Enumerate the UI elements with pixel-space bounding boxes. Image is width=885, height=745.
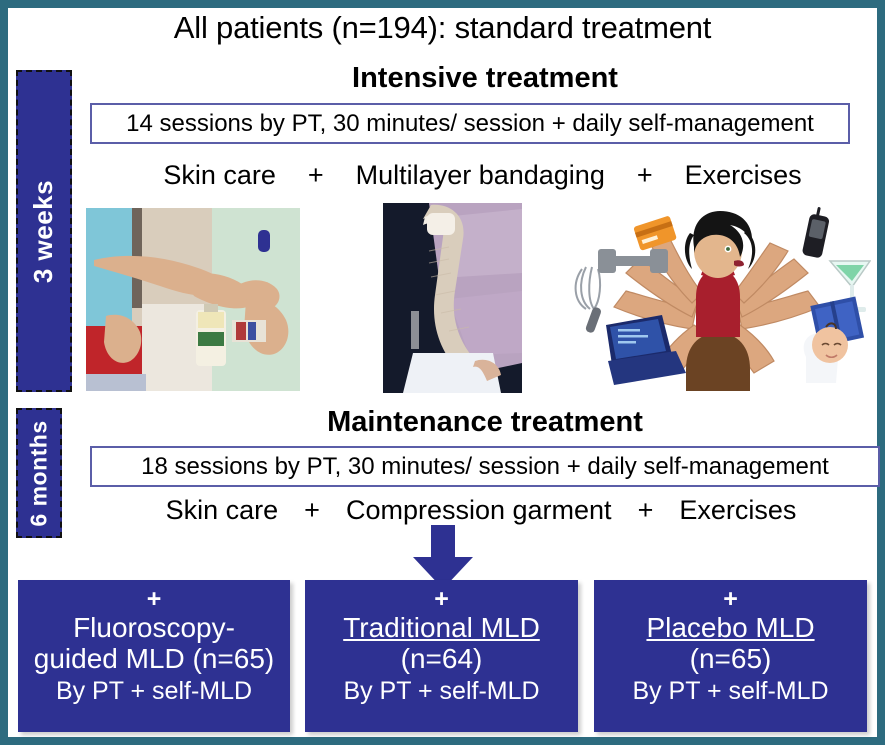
maintenance-sessions-text: 18 sessions by PT, 30 minutes/ session +… (141, 453, 829, 481)
arm-1-provider: By PT + self-MLD (18, 676, 290, 706)
intensive-component-exercises: Exercises (679, 160, 808, 191)
intensive-treatment-heading: Intensive treatment (90, 62, 880, 95)
arm-2-name: Traditional MLD (305, 612, 578, 643)
maintenance-plus-2: + (618, 495, 674, 526)
intensive-component-multilayer-bandaging: Multilayer bandaging (350, 160, 611, 191)
arm-fluoroscopy-guided-mld[interactable]: + Fluoroscopy- guided MLD (n=65) By PT +… (18, 580, 290, 732)
maintenance-component-exercises: Exercises (673, 495, 802, 526)
arm-2-count: (n=64) (305, 643, 578, 674)
maintenance-component-compression-garment: Compression garment (340, 495, 618, 526)
arm-traditional-mld[interactable]: + Traditional MLD (n=64) By PT + self-ML… (305, 580, 578, 732)
duration-bar-6-months: 6 months (16, 408, 62, 538)
arm-1-name-line1: Fluoroscopy- (18, 612, 290, 643)
arm-3-provider: By PT + self-MLD (594, 676, 867, 706)
arm-2-provider: By PT + self-MLD (305, 676, 578, 706)
arm-3-plus: + (594, 586, 867, 612)
maintenance-component-skin-care: Skin care (160, 495, 285, 526)
maintenance-sessions-box: 18 sessions by PT, 30 minutes/ session +… (90, 446, 880, 487)
maintenance-components-row: Skin care + Compression garment + Exerci… (82, 490, 880, 530)
arm-1-plus: + (18, 586, 290, 612)
intensive-sessions-box: 14 sessions by PT, 30 minutes/ session +… (90, 103, 850, 144)
intensive-sessions-text: 14 sessions by PT, 30 minutes/ session +… (126, 110, 814, 138)
duration-bar-3-weeks-label: 3 weeks (29, 179, 60, 282)
skin-care-photo (86, 208, 300, 391)
intensive-plus-2: + (611, 160, 679, 191)
exercises-illustration (568, 205, 871, 391)
arm-1-name-line2: guided MLD (n=65) (18, 643, 290, 674)
intensive-component-skin-care: Skin care (157, 160, 282, 191)
arm-placebo-mld[interactable]: + Placebo MLD (n=65) By PT + self-MLD (594, 580, 867, 732)
duration-bar-6-months-label: 6 months (26, 420, 53, 526)
multilayer-bandaging-photo (383, 203, 522, 393)
arm-2-plus: + (305, 586, 578, 612)
duration-bar-3-weeks: 3 weeks (16, 70, 72, 392)
arm-3-name: Placebo MLD (594, 612, 867, 643)
arm-3-count: (n=65) (594, 643, 867, 674)
intensive-components-row: Skin care + Multilayer bandaging + Exerc… (90, 155, 875, 195)
maintenance-treatment-heading: Maintenance treatment (90, 406, 880, 439)
intensive-plus-1: + (282, 160, 350, 191)
study-flow-diagram: All patients (n=194): standard treatment… (0, 0, 885, 745)
maintenance-plus-1: + (284, 495, 340, 526)
page-title: All patients (n=194): standard treatment (8, 10, 877, 46)
